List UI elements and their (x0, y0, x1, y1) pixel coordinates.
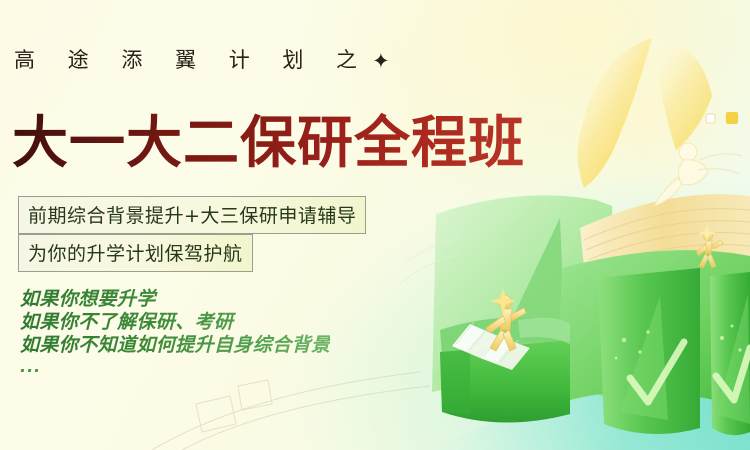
pitch-list: 如果你想要升学 如果你不了解保研、考研 如果你不知道如何提升自身综合背景 ... (20, 288, 330, 377)
lineart-decor (152, 372, 430, 450)
eyebrow-label: 高 途 添 翼 计 划 之 (14, 48, 370, 72)
eyebrow-text: 高 途 添 翼 计 划 之✦ (14, 44, 403, 74)
pitch-ellipsis: ... (20, 357, 330, 377)
pitch-line-2: 如果你不了解保研、考研 (20, 311, 330, 334)
sparkle-star-icon: ✦ (372, 49, 403, 73)
feature-tag-2: 为你的升学计划保驾护航 (18, 234, 253, 272)
bookmark-column-1 (598, 268, 700, 434)
feature-tag-1: 前期综合背景提升+大三保研申请辅导 (18, 196, 366, 234)
bookmark-column-2 (710, 272, 750, 435)
pitch-line-1: 如果你想要升学 (20, 288, 330, 311)
promo-banner: 高 途 添 翼 计 划 之✦ 大一大二保研全程班 前期综合背景提升+大三保研申请… (0, 0, 750, 450)
page-title: 大一大二保研全程班 (12, 98, 525, 179)
pitch-line-3: 如果你不知道如何提升自身综合背景 (20, 334, 330, 357)
